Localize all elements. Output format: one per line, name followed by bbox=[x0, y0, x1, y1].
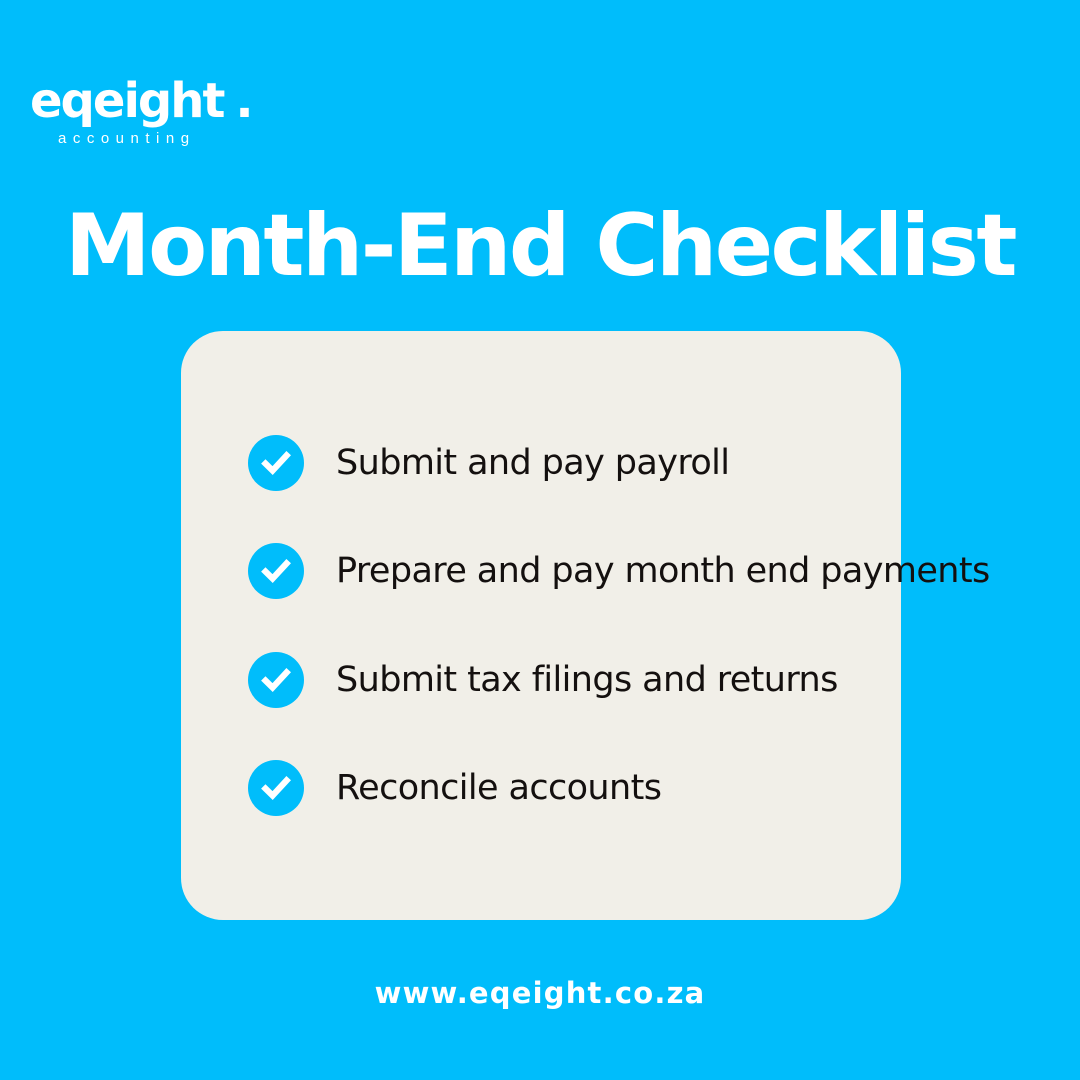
logo-wordmark-text: eqeight bbox=[30, 73, 223, 129]
checklist: Submit and pay payroll Prepare and pay m… bbox=[248, 409, 867, 842]
check-circle-icon[interactable] bbox=[248, 760, 304, 816]
list-item[interactable]: Submit and pay payroll bbox=[248, 409, 867, 517]
page-title: Month-End Checklist bbox=[0, 196, 1080, 296]
check-circle-icon[interactable] bbox=[248, 652, 304, 708]
checklist-card: Submit and pay payroll Prepare and pay m… bbox=[181, 331, 901, 920]
check-circle-icon[interactable] bbox=[248, 543, 304, 599]
list-item[interactable]: Submit tax filings and returns bbox=[248, 626, 867, 734]
footer-website-url[interactable]: www.eqeight.co.za bbox=[0, 975, 1080, 1011]
list-item-label: Submit tax filings and returns bbox=[336, 660, 838, 700]
list-item-label: Reconcile accounts bbox=[336, 768, 661, 808]
list-item-label: Prepare and pay month end payments bbox=[336, 551, 990, 591]
check-circle-icon[interactable] bbox=[248, 435, 304, 491]
logo-dot: . bbox=[235, 76, 251, 126]
list-item-label: Submit and pay payroll bbox=[336, 443, 729, 483]
logo-subtitle: accounting bbox=[58, 130, 330, 148]
brand-logo: eqeight. accounting bbox=[30, 76, 330, 148]
list-item[interactable]: Prepare and pay month end payments bbox=[248, 517, 867, 625]
list-item[interactable]: Reconcile accounts bbox=[248, 734, 867, 842]
logo-wordmark: eqeight. bbox=[30, 76, 330, 126]
